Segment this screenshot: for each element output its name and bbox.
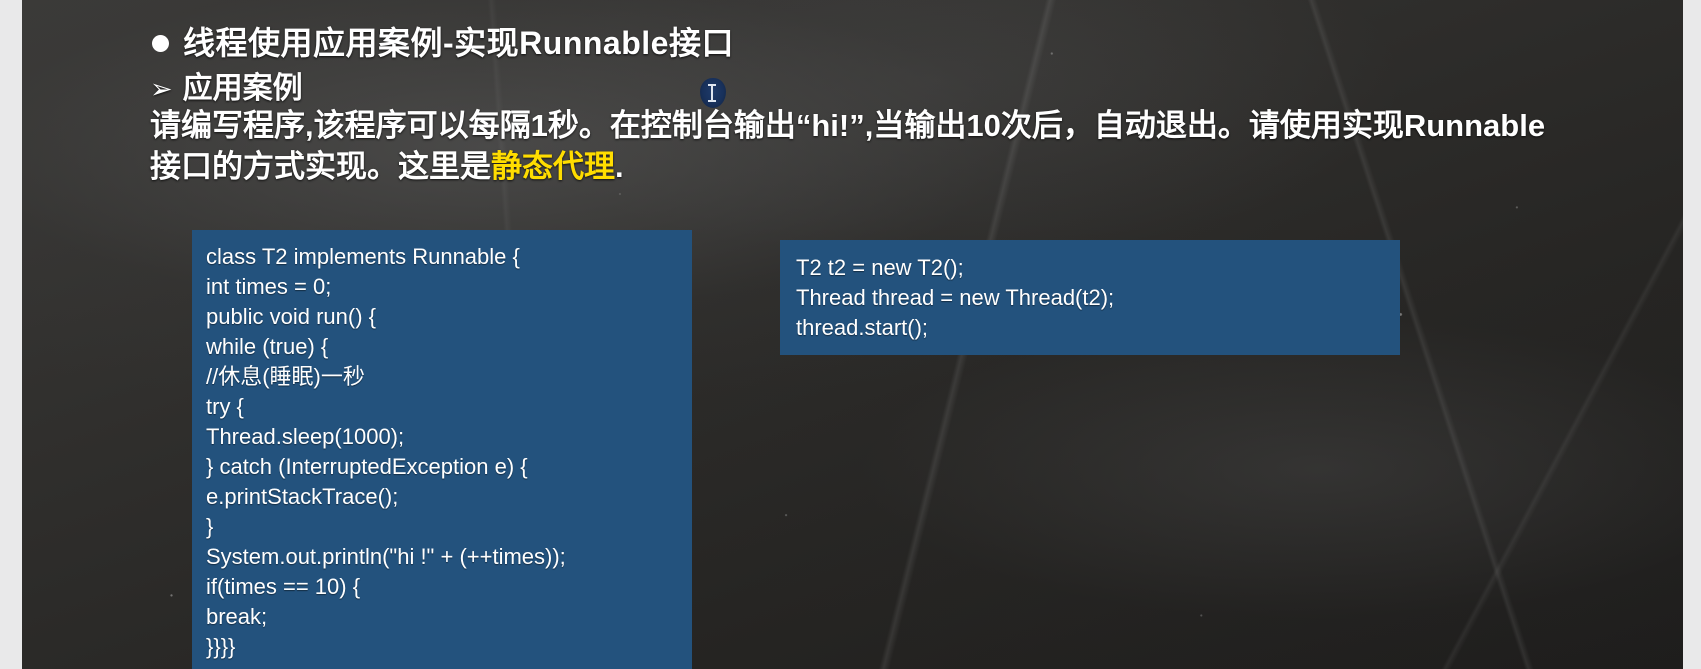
body-line2-part2: .	[615, 149, 624, 184]
body-line1-part2: ,当输出10次后，自动退出。请	[865, 108, 1280, 143]
slide-subtitle-row: ➢ 应用案例	[150, 63, 303, 107]
code-line: }	[206, 512, 692, 542]
cursor-ibeam	[711, 84, 713, 102]
cursor-halo	[700, 78, 726, 108]
code-line: if(times == 10) {	[206, 572, 692, 602]
arrow-bullet-icon: ➢	[150, 76, 173, 103]
code-line: thread.start();	[796, 313, 1400, 343]
code-line: int times = 0;	[206, 272, 692, 302]
slide-viewer: 线程使用应用案例-实现Runnable接口 ➢ 应用案例 请编写程序,该程序可以…	[0, 0, 1701, 669]
runnable-class-code-block: class T2 implements Runnable {int times …	[192, 230, 692, 669]
body-line1-quote: “hi!”	[796, 108, 865, 143]
slide-subtitle: 应用案例	[183, 63, 303, 107]
code-line: } catch (InterruptedException e) {	[206, 452, 692, 482]
code-line: break;	[206, 602, 692, 632]
presentation-slide: 线程使用应用案例-实现Runnable接口 ➢ 应用案例 请编写程序,该程序可以…	[22, 0, 1683, 669]
body-line1-part1: 请编写程序,该程序可以每隔1秒。在控制台输出	[150, 108, 796, 143]
code-line: T2 t2 = new T2();	[796, 253, 1400, 283]
code-line: class T2 implements Runnable {	[206, 242, 692, 272]
code-line: Thread thread = new Thread(t2);	[796, 283, 1400, 313]
text-ibeam-cursor-icon	[700, 78, 726, 108]
thread-start-code-block: T2 t2 = new T2();Thread thread = new Thr…	[780, 240, 1400, 355]
slide-title-row: 线程使用应用案例-实现Runnable接口	[152, 18, 734, 64]
page-title: 线程使用应用案例-实现Runnable接口	[183, 18, 734, 64]
code-line: System.out.println("hi !" + (++times));	[206, 542, 692, 572]
code-line: }}}}	[206, 632, 692, 662]
slide-body-text: 请编写程序,该程序可以每隔1秒。在控制台输出“hi!”,当输出10次后，自动退出…	[150, 105, 1570, 187]
code-line: e.printStackTrace();	[206, 482, 692, 512]
code-line: try {	[206, 392, 692, 422]
code-line: while (true) {	[206, 332, 692, 362]
code-line: public void run() {	[206, 302, 692, 332]
code-line: //休息(睡眠)一秒	[206, 362, 692, 392]
code-line: Thread.sleep(1000);	[206, 422, 692, 452]
highlighted-term: 静态代理	[491, 149, 615, 184]
bullet-dot-icon	[152, 35, 169, 52]
